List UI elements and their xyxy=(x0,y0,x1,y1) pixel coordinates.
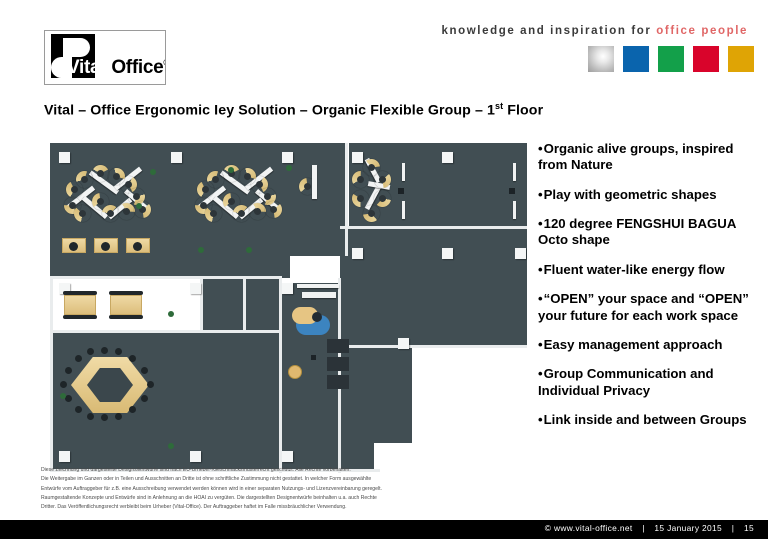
legal-line: Raumgestaltende Konzepte und Entwürfe si… xyxy=(41,494,493,503)
legal-line: Die Weitergabe im Ganzen oder in Teilen … xyxy=(41,475,493,484)
logo-wordmark: Vital-Office® xyxy=(67,58,166,77)
bullet-text: Organic alive groups, inspired from Natu… xyxy=(538,141,733,172)
floor-slab-lower-right xyxy=(340,348,412,443)
bullet-item: •“OPEN” your space and “OPEN” your futur… xyxy=(538,291,760,324)
booth-chair xyxy=(101,242,110,251)
wall-room-divider-2 xyxy=(243,278,246,333)
storage-cabinet xyxy=(327,357,349,371)
header-tagline: knowledge and inspiration for office peo… xyxy=(442,25,749,37)
tagline-accent-text: office people xyxy=(656,25,748,37)
storage-cabinet xyxy=(327,375,349,389)
wall-rooms-top xyxy=(50,276,282,279)
tagline-dark-text: knowledge and inspiration for xyxy=(442,25,657,37)
swatch-silver xyxy=(588,46,614,72)
swatch-green xyxy=(658,46,684,72)
plant xyxy=(150,169,156,175)
plant xyxy=(246,247,252,253)
bullet-marker-icon: • xyxy=(538,141,543,156)
bullet-text: Play with geometric shapes xyxy=(544,187,717,202)
meeting-chairs-1b xyxy=(63,315,97,319)
bullet-item: •120 degree FENGSHUI BAGUA Octo shape xyxy=(538,216,760,249)
floorplan-void-bottom-right xyxy=(412,346,527,475)
floorplan-image xyxy=(50,143,527,475)
column xyxy=(398,338,409,349)
column xyxy=(59,152,70,163)
column xyxy=(282,283,293,294)
footer-website[interactable]: www.vital-office.net xyxy=(554,523,633,533)
plant xyxy=(286,165,292,171)
storage-cabinet xyxy=(327,339,349,353)
meeting-table-small-2 xyxy=(110,295,142,315)
column xyxy=(442,248,453,259)
glass-mullion xyxy=(513,201,516,219)
floor-slab-rooms-upper-mid xyxy=(202,278,244,333)
page-title-main: Vital – Office Ergonomic Iey Solution – … xyxy=(44,103,495,119)
feature-bullet-list: •Organic alive groups, inspired from Nat… xyxy=(538,141,760,441)
page-title: Vital – Office Ergonomic Iey Solution – … xyxy=(44,101,543,119)
bullet-text: Link inside and between Groups xyxy=(544,412,747,427)
bullet-marker-icon: • xyxy=(538,262,543,277)
column xyxy=(515,248,526,259)
wall-corridor-left xyxy=(279,278,282,473)
bullet-item: •Group Communication and Individual Priv… xyxy=(538,366,760,399)
page-title-tail: Floor xyxy=(503,103,543,119)
copyright-icon: © xyxy=(545,523,552,533)
bullet-item: •Play with geometric shapes xyxy=(538,187,760,203)
column xyxy=(352,152,363,163)
bullet-marker-icon: • xyxy=(538,337,543,352)
wall-lower-horizontal xyxy=(340,345,527,348)
bullet-item: •Organic alive groups, inspired from Nat… xyxy=(538,141,760,174)
column xyxy=(190,451,201,462)
bullet-text: 120 degree FENGSHUI BAGUA Octo shape xyxy=(538,216,736,247)
column xyxy=(352,248,363,259)
footer-bar: © www.vital-office.net | 15 January 2015… xyxy=(0,520,768,539)
plant xyxy=(168,443,174,449)
column xyxy=(190,283,201,294)
plant xyxy=(136,203,142,209)
reception-counter xyxy=(297,284,339,288)
swatch-blue xyxy=(623,46,649,72)
meeting-chairs-1 xyxy=(63,291,97,295)
floor-slab-room-a xyxy=(246,278,280,333)
wall-left-edge xyxy=(50,276,53,471)
brand-color-swatches xyxy=(588,46,754,72)
plant xyxy=(168,311,174,317)
logo-word-vital: Vital- xyxy=(67,57,111,78)
bullet-marker-icon: • xyxy=(538,291,543,306)
registered-trademark-icon: ® xyxy=(163,58,166,68)
column xyxy=(282,152,293,163)
octo-conference-chairs xyxy=(65,351,155,419)
partition-panel xyxy=(312,165,317,199)
bullet-marker-icon: • xyxy=(538,216,543,231)
page-title-ordinal-suffix: st xyxy=(495,101,503,111)
octagonal-conference-table xyxy=(71,357,149,413)
footer-date: 15 January 2015 xyxy=(654,523,722,533)
glass-mullion xyxy=(402,163,405,181)
column xyxy=(442,152,453,163)
reception-desk xyxy=(302,292,336,298)
legal-line: Dritter. Das Veröffentlichungsrecht verb… xyxy=(41,503,493,512)
meeting-table-small-1 xyxy=(64,295,96,315)
column xyxy=(171,152,182,163)
bullet-text: Group Communication and Individual Priva… xyxy=(538,366,714,397)
bullet-item: •Link inside and between Groups xyxy=(538,412,760,428)
glass-mullion xyxy=(513,163,516,181)
column xyxy=(282,451,293,462)
booth-chair xyxy=(69,242,78,251)
wall-upper-divider xyxy=(345,143,348,256)
bullet-item: •Fluent water-like energy flow xyxy=(538,262,760,278)
switch-marker xyxy=(398,188,404,194)
bullet-marker-icon: • xyxy=(538,187,543,202)
plant xyxy=(228,167,234,173)
door-marker xyxy=(311,355,316,360)
bullet-marker-icon: • xyxy=(538,412,543,427)
footer-separator: | xyxy=(725,523,742,533)
glass-mullion xyxy=(402,201,405,219)
legal-line: Diese Zeichnung und dargestellte Designs… xyxy=(41,466,493,475)
brand-logo: Vital-Office® xyxy=(44,30,166,85)
plant xyxy=(60,393,66,399)
wall-rooms-bottom xyxy=(50,330,282,333)
swatch-gold xyxy=(728,46,754,72)
bullet-list: •Organic alive groups, inspired from Nat… xyxy=(538,141,760,428)
switch-marker xyxy=(509,188,515,194)
footer-separator: | xyxy=(635,523,652,533)
column xyxy=(59,451,70,462)
plant xyxy=(198,247,204,253)
booth-chair xyxy=(133,242,142,251)
footer-page-number: 15 xyxy=(744,523,754,533)
bullet-item: •Easy management approach xyxy=(538,337,760,353)
wall-mid-horizontal xyxy=(340,226,527,229)
bullet-text: Fluent water-like energy flow xyxy=(544,262,725,277)
meeting-chairs-2 xyxy=(109,291,143,295)
legal-disclaimer: Diese Zeichnung und dargestellte Designs… xyxy=(41,466,493,512)
swatch-red xyxy=(693,46,719,72)
meeting-chairs-2b xyxy=(109,315,143,319)
bullet-text: Easy management approach xyxy=(544,337,723,352)
bullet-marker-icon: • xyxy=(538,366,543,381)
footer-text: © www.vital-office.net | 15 January 2015… xyxy=(545,523,754,533)
round-side-table xyxy=(288,365,302,379)
legal-line: Entwürfe vom Auftraggeber für z.B. eine … xyxy=(41,485,493,494)
logo-word-office: Office xyxy=(111,57,163,78)
floor-slab-midband xyxy=(50,256,290,278)
lounge-seating xyxy=(296,315,330,335)
floor-slab-middle-right xyxy=(340,228,527,346)
bullet-text: “OPEN” your space and “OPEN” your future… xyxy=(538,291,749,322)
